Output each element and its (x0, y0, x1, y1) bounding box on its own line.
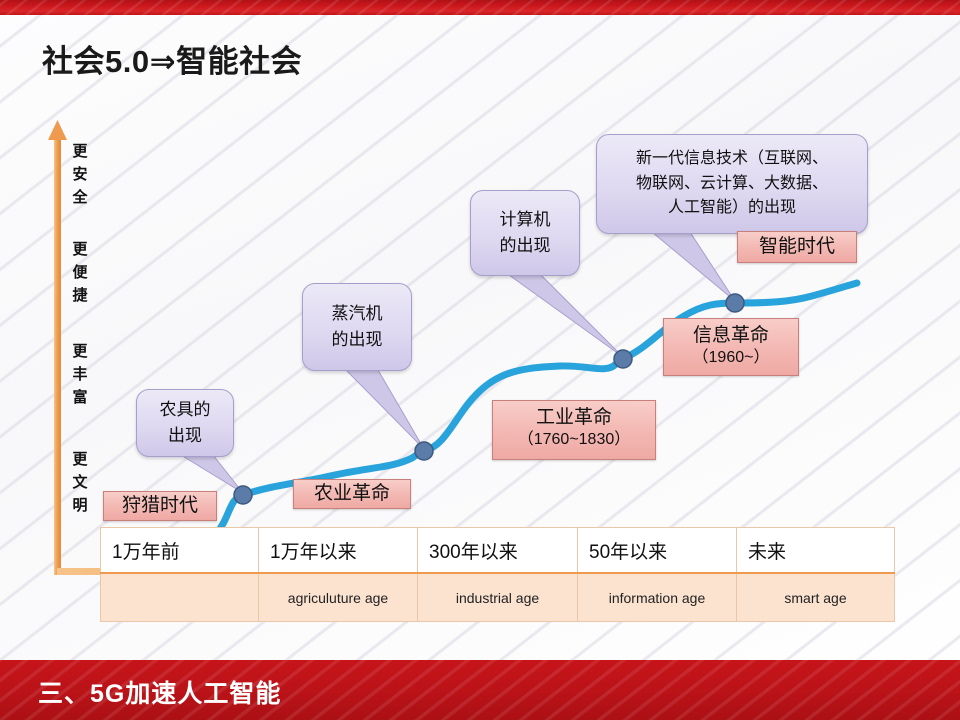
callout-line: 人工智能）的出现 (668, 196, 796, 221)
callout-line: 出现 (168, 423, 202, 449)
callout-line: 农具的 (160, 397, 211, 423)
cell-age-1: agriculuture age (259, 573, 418, 622)
y-caption-char: 便 (68, 261, 92, 284)
footer-section-title: 三、5G加速人工智能 (38, 674, 281, 710)
y-caption-more-convenient: 更 便 捷 (68, 238, 92, 307)
y-caption-char: 丰 (68, 363, 92, 386)
y-caption-char: 文 (68, 471, 92, 494)
node-information (726, 294, 744, 312)
era-box-information: 信息革命 （1960~） (663, 318, 799, 376)
cell-age-2: industrial age (418, 573, 578, 622)
age-table: 1万年前 1万年以来 300年以来 50年以来 未来 agriculuture … (100, 527, 895, 622)
era-box-sublabel: （1760~1830） (493, 430, 655, 451)
cell-period-1: 1万年以来 (259, 528, 418, 574)
y-caption-char: 更 (68, 340, 92, 363)
node-industrial (614, 350, 632, 368)
node-agriculture (415, 442, 433, 460)
cell-period-2: 300年以来 (418, 528, 578, 574)
y-caption-char: 全 (68, 186, 92, 209)
diagram-stage: 更 安 全 更 便 捷 更 丰 富 更 文 明 1万年前 1万年以来 300年以… (0, 0, 960, 660)
era-box-label: 狩猎时代 (122, 494, 198, 518)
table-row-periods: 1万年前 1万年以来 300年以来 50年以来 未来 (101, 528, 895, 574)
callout-line: 的出现 (332, 327, 383, 353)
callout-line: 的出现 (500, 233, 551, 259)
era-box-label: 农业革命 (314, 482, 390, 506)
y-axis (48, 120, 67, 575)
callout-computer: 计算机 的出现 (470, 190, 580, 276)
era-box-industrial: 工业革命 （1760~1830） (492, 400, 656, 460)
callout-farm-tools: 农具的 出现 (136, 389, 234, 457)
table-row-ages-en: agriculuture age industrial age informat… (101, 573, 895, 622)
era-box-label: 工业革命 (493, 406, 655, 430)
cell-age-0 (101, 573, 259, 622)
callout-new-it: 新一代信息技术（互联网、 物联网、云计算、大数据、 人工智能）的出现 (596, 134, 868, 234)
y-caption-char: 更 (68, 448, 92, 471)
cell-period-3: 50年以来 (578, 528, 737, 574)
cell-period-0: 1万年前 (101, 528, 259, 574)
cell-age-4: smart age (737, 573, 895, 622)
slide-canvas: 社会5.0⇒智能社会 (0, 0, 960, 720)
era-box-smart: 智能时代 (737, 231, 857, 263)
callout-line: 新一代信息技术（互联网、 (636, 147, 828, 172)
y-caption-char: 富 (68, 386, 92, 409)
y-caption-char: 捷 (68, 284, 92, 307)
era-box-agriculture: 农业革命 (293, 479, 411, 509)
y-caption-more-civilized: 更 文 明 (68, 448, 92, 517)
y-caption-char: 安 (68, 163, 92, 186)
y-caption-safer: 更 安 全 (68, 140, 92, 209)
y-caption-char: 明 (68, 494, 92, 517)
node-hunting (234, 486, 252, 504)
callout-line: 蒸汽机 (332, 301, 383, 327)
y-caption-char: 更 (68, 238, 92, 261)
era-box-label: 智能时代 (759, 235, 835, 259)
era-box-label: 信息革命 (664, 324, 798, 348)
era-box-hunting: 狩猎时代 (103, 491, 217, 521)
callout-line: 物联网、云计算、大数据、 (636, 172, 828, 197)
era-box-sublabel: （1960~） (664, 348, 798, 369)
callout-steam-engine: 蒸汽机 的出现 (302, 283, 412, 371)
y-caption-char: 更 (68, 140, 92, 163)
cell-period-4: 未来 (737, 528, 895, 574)
footer-red-bar: 三、5G加速人工智能 (0, 660, 960, 720)
callout-line: 计算机 (500, 207, 551, 233)
cell-age-3: information age (578, 573, 737, 622)
y-caption-more-abundant: 更 丰 富 (68, 340, 92, 409)
